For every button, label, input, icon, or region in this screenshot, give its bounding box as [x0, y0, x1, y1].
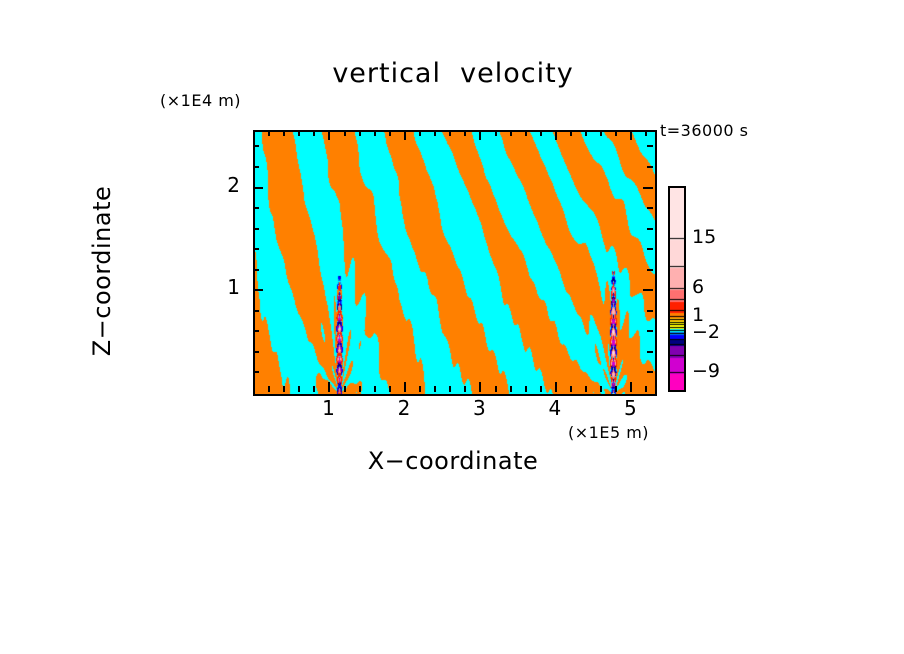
- colorbar: [668, 186, 686, 392]
- y-major-tick-right: [643, 289, 653, 291]
- x-minor-tick-top: [645, 130, 647, 136]
- x-minor-tick: [510, 386, 512, 392]
- y-minor-tick: [253, 351, 259, 353]
- y-minor-tick-right: [647, 330, 653, 332]
- x-major-tick-top: [404, 130, 406, 140]
- x-minor-tick: [645, 386, 647, 392]
- vertical-velocity-field: [255, 132, 655, 394]
- page-title: vertical velocity: [253, 58, 653, 89]
- x-minor-tick: [268, 386, 270, 392]
- x-minor-tick-top: [615, 130, 617, 136]
- x-minor-tick-top: [298, 130, 300, 136]
- x-major-tick-top: [630, 130, 632, 140]
- y-minor-tick: [253, 248, 259, 250]
- x-minor-tick-top: [464, 130, 466, 136]
- y-minor-tick-right: [647, 371, 653, 373]
- x-major-tick: [404, 382, 406, 392]
- x-minor-tick-top: [344, 130, 346, 136]
- colorbar-tick-label: 6: [692, 276, 704, 298]
- x-minor-tick: [313, 386, 315, 392]
- x-minor-tick-top: [525, 130, 527, 136]
- y-minor-tick-right: [647, 351, 653, 353]
- figure-canvas: vertical velocity (×1E4 m) t=36000 s 123…: [0, 0, 904, 654]
- x-minor-tick: [298, 386, 300, 392]
- colorbar-tick-label: 15: [692, 226, 716, 248]
- x-minor-tick-top: [495, 130, 497, 136]
- x-minor-tick: [464, 386, 466, 392]
- y-minor-tick: [253, 269, 259, 271]
- x-minor-tick: [344, 386, 346, 392]
- contour-plot-area: [253, 130, 657, 396]
- x-minor-tick: [389, 386, 391, 392]
- y-minor-tick: [253, 207, 259, 209]
- y-minor-tick-right: [647, 207, 653, 209]
- x-minor-tick: [434, 386, 436, 392]
- x-minor-tick-top: [313, 130, 315, 136]
- time-stamp-annotation: t=36000 s: [660, 121, 749, 140]
- x-major-tick-top: [328, 130, 330, 140]
- x-major-tick-top: [479, 130, 481, 140]
- y-minor-tick: [253, 310, 259, 312]
- x-minor-tick: [585, 386, 587, 392]
- y-minor-tick-right: [647, 310, 653, 312]
- y-tick-label: 1: [200, 275, 240, 299]
- colorbar-tick-label: −2: [692, 321, 720, 343]
- x-axis-unit-label: (×1E5 m): [568, 423, 649, 442]
- y-major-tick-right: [643, 187, 653, 189]
- y-minor-tick-right: [647, 269, 653, 271]
- x-tick-label: 1: [308, 396, 348, 420]
- x-minor-tick-top: [389, 130, 391, 136]
- x-minor-tick-top: [510, 130, 512, 136]
- x-minor-tick: [570, 386, 572, 392]
- x-minor-tick: [449, 386, 451, 392]
- x-minor-tick-top: [540, 130, 542, 136]
- colorbar-tick-label: −9: [692, 360, 720, 382]
- x-minor-tick: [600, 386, 602, 392]
- x-minor-tick-top: [359, 130, 361, 136]
- x-minor-tick-top: [585, 130, 587, 136]
- x-major-tick-top: [555, 130, 557, 140]
- x-tick-label: 5: [610, 396, 650, 420]
- y-axis-title: Z−coordinate: [88, 131, 116, 411]
- y-minor-tick: [253, 371, 259, 373]
- x-minor-tick: [495, 386, 497, 392]
- x-minor-tick-top: [449, 130, 451, 136]
- x-axis-title: X−coordinate: [253, 447, 653, 475]
- y-minor-tick: [253, 330, 259, 332]
- x-minor-tick-top: [374, 130, 376, 136]
- x-minor-tick-top: [419, 130, 421, 136]
- x-minor-tick: [615, 386, 617, 392]
- x-minor-tick-top: [600, 130, 602, 136]
- y-major-tick: [253, 187, 263, 189]
- x-tick-label: 4: [535, 396, 575, 420]
- x-minor-tick-top: [283, 130, 285, 136]
- y-minor-tick-right: [647, 248, 653, 250]
- y-minor-tick: [253, 145, 259, 147]
- x-minor-tick: [525, 386, 527, 392]
- x-minor-tick-top: [434, 130, 436, 136]
- x-tick-label: 2: [384, 396, 424, 420]
- y-major-tick: [253, 289, 263, 291]
- x-tick-label: 3: [459, 396, 499, 420]
- x-major-tick: [555, 382, 557, 392]
- x-major-tick: [479, 382, 481, 392]
- x-minor-tick-top: [570, 130, 572, 136]
- y-minor-tick-right: [647, 228, 653, 230]
- x-minor-tick: [540, 386, 542, 392]
- y-minor-tick: [253, 228, 259, 230]
- x-minor-tick-top: [268, 130, 270, 136]
- colorbar-gradient: [670, 188, 684, 390]
- x-minor-tick: [374, 386, 376, 392]
- x-minor-tick: [283, 386, 285, 392]
- y-minor-tick-right: [647, 145, 653, 147]
- y-minor-tick: [253, 166, 259, 168]
- x-minor-tick: [359, 386, 361, 392]
- x-minor-tick: [419, 386, 421, 392]
- x-major-tick: [630, 382, 632, 392]
- y-minor-tick-right: [647, 166, 653, 168]
- x-major-tick: [328, 382, 330, 392]
- y-tick-label: 2: [200, 173, 240, 197]
- y-axis-unit-label: (×1E4 m): [160, 91, 241, 110]
